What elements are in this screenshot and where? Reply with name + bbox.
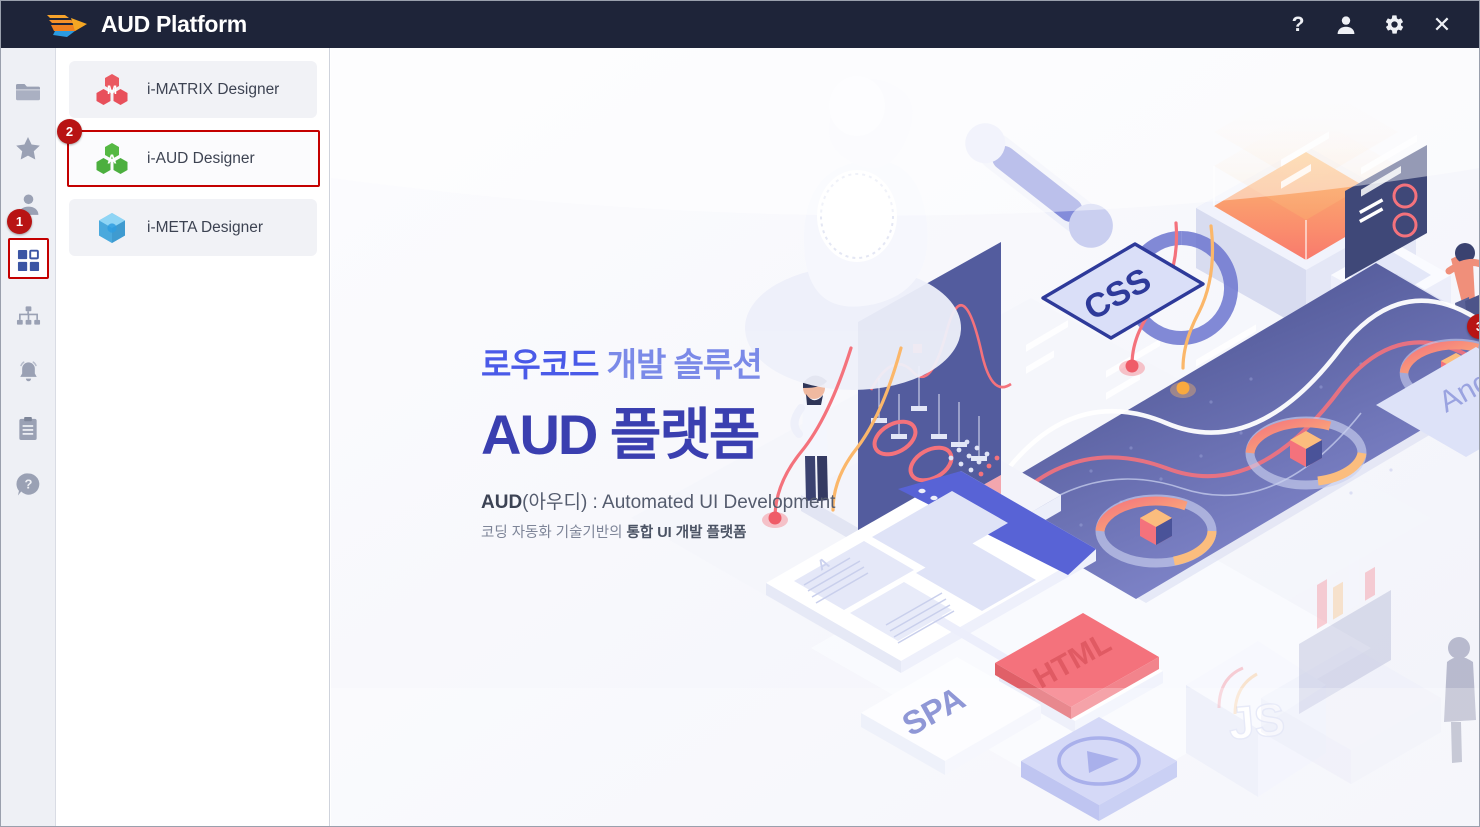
hero-title: AUD 플랫폼 [481, 390, 835, 471]
sidebar-item-alerts[interactable] [1, 344, 56, 400]
title-bar-actions: ? ✕ [1285, 12, 1455, 38]
hero-description-pre: 코딩 자동화 기술기반의 [481, 525, 627, 541]
hero-subtitle-strong: 로우코드 [481, 346, 598, 383]
application-window: AUD Platform ? ✕ [0, 0, 1480, 827]
designer-item-meta[interactable]: i-META Designer [69, 199, 317, 256]
gear-icon[interactable] [1381, 12, 1407, 38]
hero-description-bold: 통합 UI 개발 플랫폼 [627, 525, 747, 541]
user-icon[interactable] [1333, 12, 1359, 38]
bell-icon [17, 360, 40, 385]
aud-arrow-logo-icon [45, 10, 89, 40]
meta-cube-icon [95, 211, 129, 245]
app-title: AUD Platform [101, 11, 247, 38]
svg-text:A: A [107, 151, 117, 166]
icon-rail: ? [1, 48, 56, 827]
designer-item-aud[interactable]: A i-AUD Designer [67, 130, 320, 187]
question-bubble-icon: ? [16, 472, 41, 497]
brand: AUD Platform [45, 10, 247, 40]
hero-subtitle-line: 로우코드 개발 솔루션 [481, 338, 835, 386]
designer-label: i-MATRIX Designer [147, 81, 279, 99]
hero-description: 코딩 자동화 기술기반의 통합 UI 개발 플랫폼 [481, 521, 835, 542]
svg-text:M: M [107, 83, 117, 97]
step-marker-1: 1 [7, 209, 32, 234]
sidebar-item-sitemap[interactable] [1, 288, 56, 344]
clipboard-icon [17, 416, 39, 441]
designer-label: i-META Designer [147, 219, 263, 237]
folder-icon [15, 81, 41, 103]
sitemap-icon [16, 305, 41, 327]
close-icon[interactable]: ✕ [1429, 12, 1455, 38]
sidebar-item-clipboard[interactable] [1, 400, 56, 456]
designer-list-panel: M i-MATRIX Designer A i-AUD Designer i-M… [57, 48, 330, 827]
hero-definition-rest: (아우디) : Automated UI Development [522, 492, 835, 513]
designer-label: i-AUD Designer [147, 150, 255, 168]
sidebar-item-help[interactable]: ? [1, 456, 56, 512]
main-canvas: A CSS Angular [331, 48, 1480, 827]
sidebar-item-folder[interactable] [1, 64, 56, 120]
hero-subtitle-soft: 개발 솔루션 [598, 346, 761, 383]
star-icon [15, 136, 41, 161]
matrix-hexagon-icon: M [95, 73, 129, 107]
svg-text:?: ? [24, 476, 32, 491]
help-icon[interactable]: ? [1285, 12, 1311, 38]
hero-text-block: 로우코드 개발 솔루션 AUD 플랫폼 AUD(아우디) : Automated… [481, 338, 835, 542]
sidebar-item-favorites[interactable] [1, 120, 56, 176]
grid-icon [17, 249, 40, 272]
step-marker-2: 2 [57, 119, 82, 144]
aud-hexagon-icon: A [95, 142, 129, 176]
hero-definition: AUD(아우디) : Automated UI Development [481, 487, 835, 514]
designer-item-matrix[interactable]: M i-MATRIX Designer [69, 61, 317, 118]
sidebar-item-apps[interactable] [1, 232, 56, 288]
title-bar: AUD Platform ? ✕ [1, 1, 1480, 48]
hero-definition-bold: AUD [481, 492, 522, 513]
